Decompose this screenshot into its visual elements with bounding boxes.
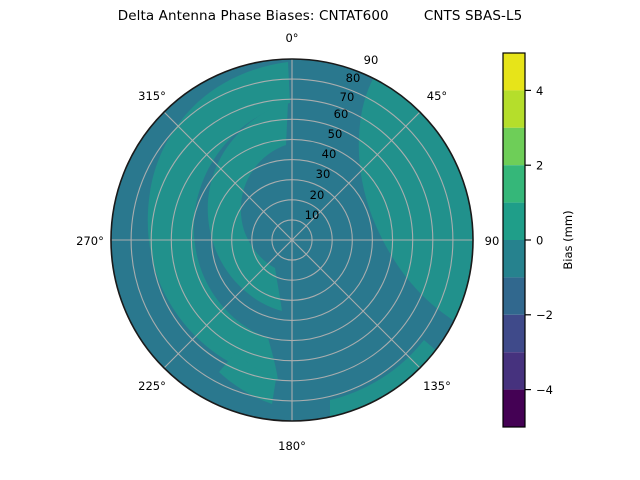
colorbar-label-4: 4 [536,84,543,98]
angular-label-90: 90 [485,234,500,248]
colorbar-band-4to5 [503,53,525,90]
radial-label-70: 70 [340,90,355,104]
radial-label-50: 50 [328,127,343,141]
contour-fill-group [111,58,480,427]
colorbar-tick-labels: 4 2 0 −2 −4 [536,84,553,397]
polar-plot-svg: 0° 45° 90 135° 180° 225° 270° 315° 10 20… [0,0,640,480]
colorbar-label-2: 2 [536,159,543,173]
colorbar-band-2to3 [503,128,525,165]
polar-grid-spokes [111,59,473,421]
colorbar-band-m5tom4 [503,390,525,427]
radial-label-90: 90 [364,53,379,67]
angular-label-180: 180° [278,439,306,453]
polar-plot-container: 0° 45° 90 135° 180° 225° 270° 315° 10 20… [0,0,640,480]
colorbar-band-3to4 [503,90,525,127]
angular-label-135: 135° [423,379,451,393]
angular-label-270: 270° [76,234,104,248]
colorbar-label-0: 0 [536,233,543,247]
radial-label-10: 10 [305,208,320,222]
angular-label-45: 45° [427,89,447,103]
angular-label-0: 0° [285,31,298,45]
colorbar-band-m1to0 [503,240,525,277]
angular-label-315: 315° [138,89,166,103]
colorbar-band-m2tom1 [503,277,525,314]
radial-label-60: 60 [334,107,349,121]
radial-label-30: 30 [316,167,331,181]
colorbar-band-1to2 [503,165,525,202]
colorbar-band-m3tom2 [503,315,525,352]
colorbar-label-m2: −2 [536,308,553,322]
colorbar-ticks [525,90,531,389]
angular-label-225: 225° [138,379,166,393]
colorbar-bands [503,53,525,427]
colorbar-axis-label: Bias (mm) [561,210,575,269]
radial-label-80: 80 [346,71,361,85]
radial-label-40: 40 [322,147,337,161]
colorbar[interactable]: 4 2 0 −2 −4 Bias (mm) [503,53,575,427]
figure-canvas: Delta Antenna Phase Biases: CNTAT600 CNT… [0,0,640,480]
radial-label-20: 20 [310,188,325,202]
colorbar-band-0to1 [503,203,525,240]
colorbar-label-m4: −4 [536,383,553,397]
colorbar-band-m4tom3 [503,352,525,389]
